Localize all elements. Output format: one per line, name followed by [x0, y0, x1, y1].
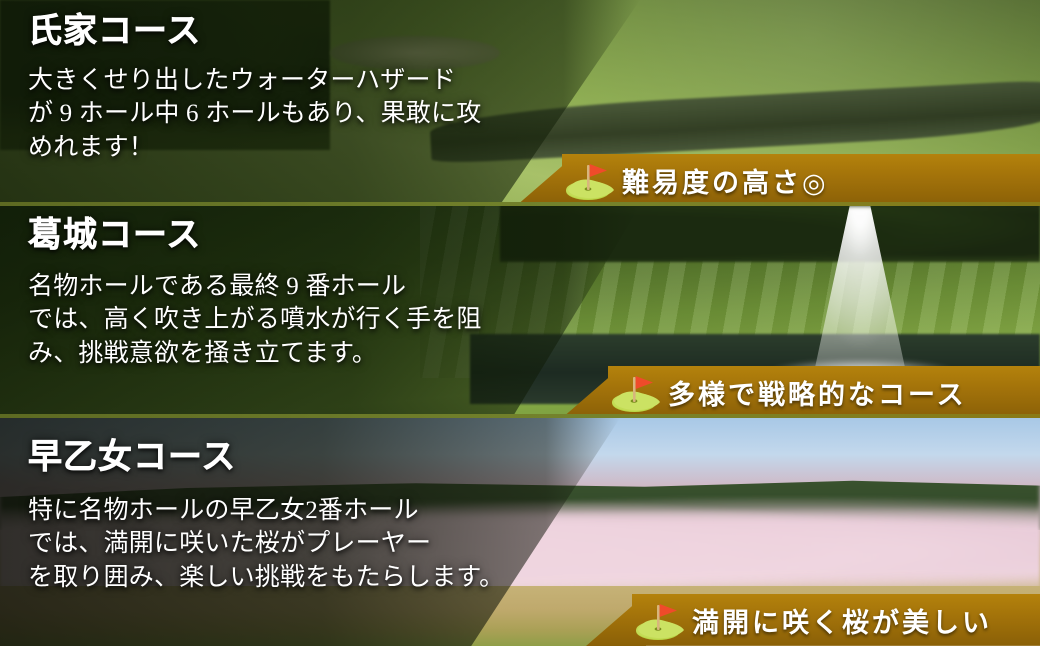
course-description-line: を取り囲み、楽しい挑戦をもたらします。 — [28, 561, 598, 595]
course-description: 大きくせり出したウォーターハザード が 9 ホール中 6 ホールもあり、果敢に攻… — [28, 64, 598, 165]
golf-flag-icon — [632, 598, 686, 642]
course-description-line: 特に名物ホールの早乙女2番ホール — [28, 494, 598, 528]
course-description-line: み、挑戦意欲を掻き立てます。 — [28, 337, 598, 371]
course-title: 葛城コース — [28, 218, 598, 254]
course-section-saotome: 早乙女コース 特に名物ホールの早乙女2番ホール では、満開に咲いた桜がプレーヤー… — [0, 418, 1040, 646]
section-divider — [0, 202, 1040, 206]
course-text-block-saotome: 早乙女コース 特に名物ホールの早乙女2番ホール では、満開に咲いた桜がプレーヤー… — [28, 440, 598, 595]
course-description-line: では、高く吹き上がる噴水が行く手を阻 — [28, 303, 598, 337]
banner-label: 難易度の高さ◎ — [622, 161, 829, 200]
golf-flag-icon — [562, 158, 616, 202]
golf-flag-icon — [608, 370, 662, 414]
course-section-katsuragi: 葛城コース 名物ホールである最終 9 番ホール では、高く吹き上がる噴水が行く手… — [0, 206, 1040, 418]
course-description-line: では、満開に咲いた桜がプレーヤー — [28, 527, 598, 561]
course-description: 名物ホールである最終 9 番ホール では、高く吹き上がる噴水が行く手を阻 み、挑… — [28, 270, 598, 371]
banner-label: 多様で戦略的なコース — [668, 373, 967, 412]
course-title: 早乙女コース — [28, 440, 598, 476]
course-description: 特に名物ホールの早乙女2番ホール では、満開に咲いた桜がプレーヤー を取り囲み、… — [28, 494, 598, 595]
course-title: 氏家コース — [28, 14, 598, 50]
course-feature-banner-katsuragi: 多様で戦略的なコース — [608, 366, 1040, 418]
course-feature-banner-ujiie: 難易度の高さ◎ — [562, 154, 1040, 206]
course-description-line: が 9 ホール中 6 ホールもあり、果敢に攻 — [28, 97, 598, 131]
banner-label: 満開に咲く桜が美しい — [692, 601, 992, 640]
golf-course-promo-banner: 氏家コース 大きくせり出したウォーターハザード が 9 ホール中 6 ホールもあ… — [0, 0, 1040, 646]
course-text-block-ujiie: 氏家コース 大きくせり出したウォーターハザード が 9 ホール中 6 ホールもあ… — [28, 14, 598, 165]
course-description-line: めれます！ — [28, 131, 598, 165]
course-section-ujiie: 氏家コース 大きくせり出したウォーターハザード が 9 ホール中 6 ホールもあ… — [0, 0, 1040, 206]
section-divider — [0, 414, 1040, 418]
course-text-block-katsuragi: 葛城コース 名物ホールである最終 9 番ホール では、高く吹き上がる噴水が行く手… — [28, 218, 598, 371]
course-feature-banner-saotome: 満開に咲く桜が美しい — [632, 594, 1040, 646]
course-description-line: 大きくせり出したウォーターハザード — [28, 64, 598, 98]
course-description-line: 名物ホールである最終 9 番ホール — [28, 270, 598, 304]
